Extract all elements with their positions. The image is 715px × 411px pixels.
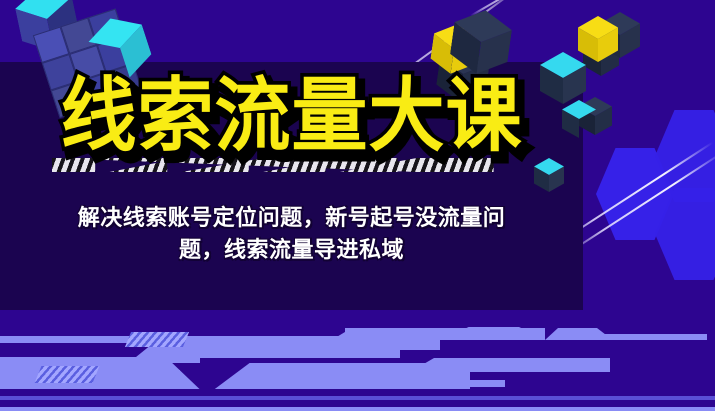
course-poster: 线索流量大课 线索流量大课 解决线索账号定位问题，新号起号没流量问 题，线索流量… <box>0 0 715 411</box>
circuit-shape <box>0 363 210 389</box>
poster-title: 线索流量大课 <box>61 76 523 157</box>
circuit-shape <box>597 334 707 340</box>
subtitle-line-1: 解决线索账号定位问题，新号起号没流量问 <box>22 203 561 235</box>
cube-decoration <box>534 158 564 192</box>
circuit-shape <box>460 363 580 370</box>
circuit-shape <box>360 380 505 387</box>
circuit-trace <box>0 407 715 411</box>
title-block: 线索流量大课 线索流量大课 <box>0 78 583 154</box>
circuit-hatch <box>125 332 189 347</box>
subtitle-line-2: 题，线索流量导进私域 <box>22 235 561 267</box>
circuit-trace <box>0 396 715 400</box>
cube-decoration <box>448 6 514 77</box>
circuit-hatch <box>35 366 100 383</box>
poster-subtitle: 解决线索账号定位问题，新号起号没流量问 题，线索流量导进私域 <box>0 203 583 267</box>
tech-circuit-band <box>0 310 715 411</box>
